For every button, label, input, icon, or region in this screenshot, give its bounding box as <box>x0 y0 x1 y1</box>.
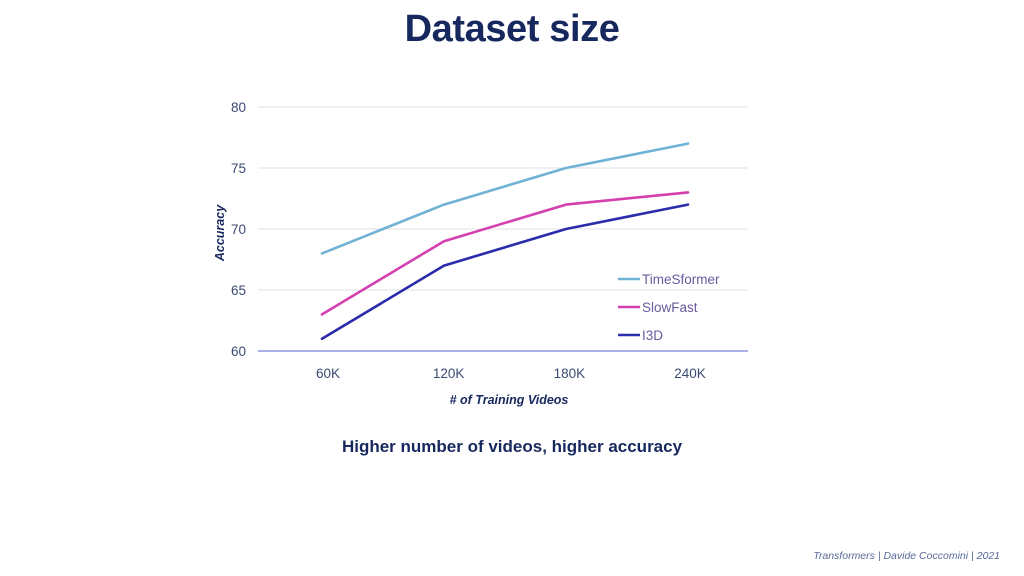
chart-legend: TimeSformerSlowFastI3D <box>618 272 720 343</box>
y-axis-tick-labels: 6065707580 <box>231 100 246 359</box>
x-tick-label: 240K <box>674 366 706 381</box>
slide-footer: Transformers | Davide Coccomini | 2021 <box>813 550 1000 562</box>
legend-label-timesformer: TimeSformer <box>642 272 720 287</box>
y-tick-label: 60 <box>231 344 246 359</box>
chart-svg: 6065707580 60K120K180K240K TimeSformerSl… <box>200 88 780 408</box>
x-axis-title: # of Training Videos <box>450 393 569 407</box>
x-axis-tick-labels: 60K120K180K240K <box>316 366 706 381</box>
series-line-i3d <box>322 205 688 339</box>
x-tick-label: 120K <box>433 366 465 381</box>
y-tick-label: 70 <box>231 222 246 237</box>
y-axis-title: Accuracy <box>213 204 227 262</box>
x-tick-label: 60K <box>316 366 340 381</box>
legend-label-slowfast: SlowFast <box>642 300 698 315</box>
legend-label-i3d: I3D <box>642 328 663 343</box>
series-group <box>322 144 688 339</box>
y-tick-label: 65 <box>231 283 246 298</box>
slide-caption: Higher number of videos, higher accuracy <box>0 437 1024 457</box>
series-line-slowfast <box>322 192 688 314</box>
y-tick-label: 80 <box>231 100 246 115</box>
line-chart: 6065707580 60K120K180K240K TimeSformerSl… <box>200 88 780 408</box>
page-title: Dataset size <box>0 8 1024 51</box>
slide-canvas: Dataset size 6065707580 60K120K180K240K … <box>0 0 1024 576</box>
x-tick-label: 180K <box>554 366 586 381</box>
y-tick-label: 75 <box>231 161 246 176</box>
